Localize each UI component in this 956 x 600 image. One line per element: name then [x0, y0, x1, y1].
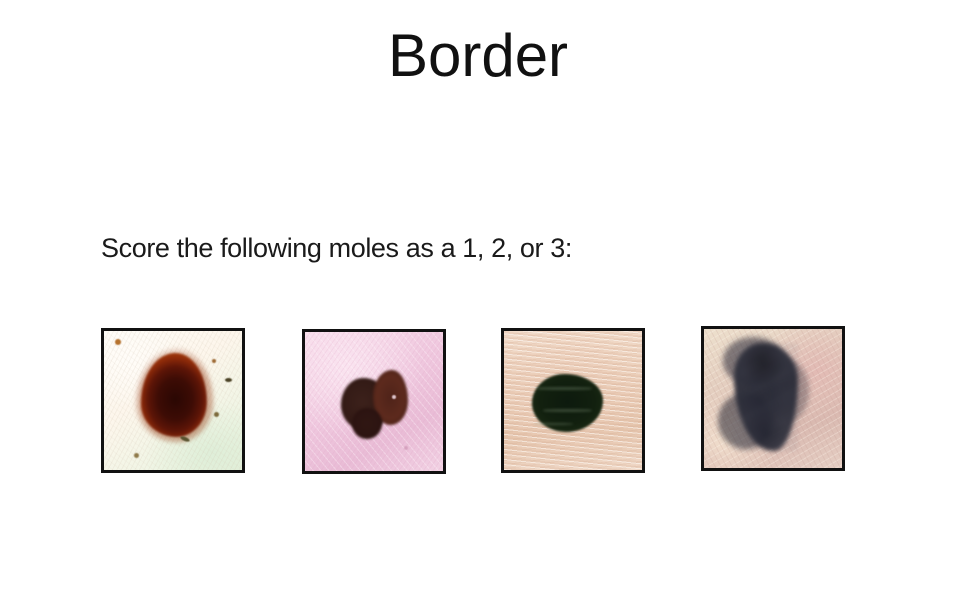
mole-3-lesion-streak: [537, 387, 592, 390]
slide-canvas: Border Score the following moles as a 1,…: [0, 0, 956, 600]
mole-image-1: [101, 328, 245, 473]
mole-2-fleck: [392, 395, 396, 399]
mole-3-skin: [504, 331, 642, 470]
mole-3-lesion-streak: [534, 423, 573, 425]
mole-image-row: [0, 326, 956, 476]
mole-3-lesion-streak: [543, 409, 593, 412]
mole-1-fleck: [212, 359, 216, 363]
instruction-text: Score the following moles as a 1, 2, or …: [101, 233, 572, 264]
mole-1-skin: [104, 331, 242, 470]
page-title: Border: [0, 24, 956, 87]
mole-4-lesion: [734, 343, 797, 451]
mole-2-skin: [305, 332, 443, 471]
mole-image-2: [302, 329, 446, 474]
mole-4-lesion-mottling: [734, 343, 797, 451]
mole-image-3: [501, 328, 645, 473]
mole-2-lesion-lower-lobe: [352, 408, 382, 439]
mole-4-skin: [704, 329, 842, 468]
mole-image-4: [701, 326, 845, 471]
